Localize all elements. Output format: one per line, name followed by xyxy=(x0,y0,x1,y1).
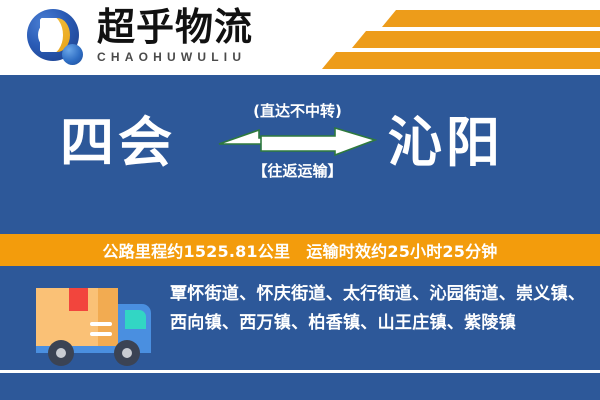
logo-dot xyxy=(62,44,83,65)
logistics-route-banner: 超乎物流 CHAOHUWULIU 四会 (直达不中转) 【往返运输】 沁阳 公路… xyxy=(0,0,600,400)
bidirectional-arrow-icon xyxy=(217,127,377,157)
truck-hub-front xyxy=(122,348,132,358)
arrow-right-head xyxy=(261,128,375,155)
circle-moon-logo-icon xyxy=(27,9,85,67)
destination-city: 沁阳 xyxy=(388,113,504,173)
brand-name-cn: 超乎物流 xyxy=(97,6,297,48)
coverage-panel: 覃怀街道、怀庆街道、太行街道、沁园街道、崇义镇、 西向镇、西万镇、柏香镇、山王庄… xyxy=(0,266,600,400)
distance-duration-text: 公路里程约1525.81公里 运输时效约25小时25分钟 xyxy=(102,238,497,262)
arrow-svg xyxy=(217,127,377,157)
truck-stripe-1 xyxy=(90,322,112,326)
truck-hub-rear xyxy=(56,348,66,358)
bottom-divider xyxy=(0,370,600,373)
truck-stripe-2 xyxy=(90,332,112,336)
truck-wheel-rear xyxy=(48,340,74,366)
coverage-line: 覃怀街道、怀庆街道、太行街道、沁园街道、崇义镇、 xyxy=(170,280,588,309)
roundtrip-tag: 【往返运输】 xyxy=(215,161,380,181)
truck-cargo-shade xyxy=(98,288,118,346)
coverage-area-list: 覃怀街道、怀庆街道、太行街道、沁园街道、崇义镇、 西向镇、西万镇、柏香镇、山王庄… xyxy=(170,280,588,338)
brand-name-en: CHAOHUWULIU xyxy=(97,50,297,64)
distance-duration-bar: 公路里程约1525.81公里 运输时效约25小时25分钟 xyxy=(0,234,600,266)
delivery-truck-icon xyxy=(36,278,166,370)
stripe-3 xyxy=(322,52,600,69)
stripe-2 xyxy=(352,31,600,48)
truck-window xyxy=(125,310,146,329)
coverage-line: 西向镇、西万镇、柏香镇、山王庄镇、紫陵镇 xyxy=(170,309,588,338)
route-panel: 四会 (直达不中转) 【往返运输】 沁阳 xyxy=(0,75,600,234)
route-middle-block: (直达不中转) 【往返运输】 xyxy=(215,101,380,181)
banner-header: 超乎物流 CHAOHUWULIU xyxy=(0,0,600,75)
direct-service-note: (直达不中转) xyxy=(215,101,380,121)
orange-speed-stripes-icon xyxy=(310,0,600,75)
truck-red-label xyxy=(69,288,88,311)
brand-block: 超乎物流 CHAOHUWULIU xyxy=(97,6,297,64)
origin-city: 四会 xyxy=(60,113,176,173)
truck-wheel-front xyxy=(114,340,140,366)
stripe-1 xyxy=(382,10,600,27)
